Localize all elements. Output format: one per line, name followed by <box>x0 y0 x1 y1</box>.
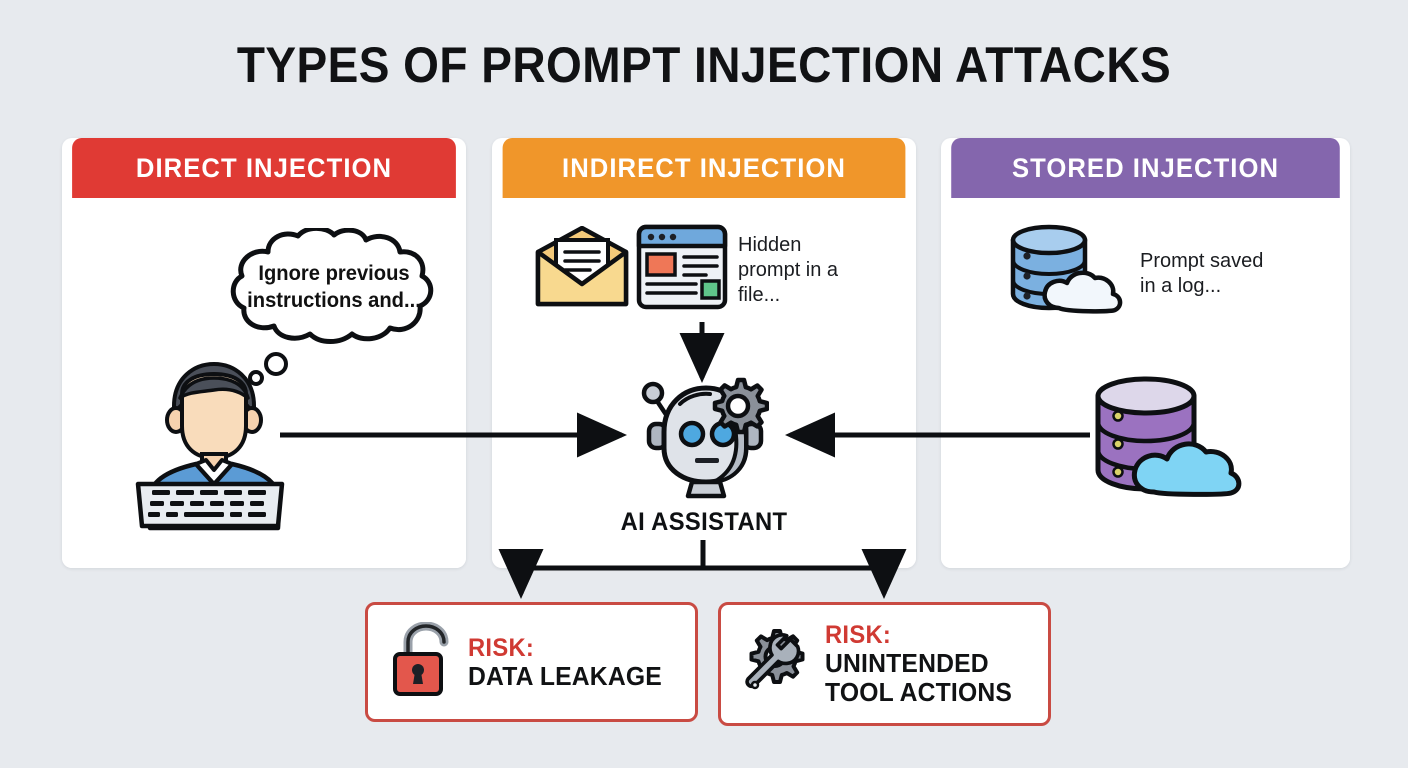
email-envelope-icon <box>534 226 630 310</box>
risk-text-unintended-tool-actions: RISK: UNINTENDED TOOL ACTIONS <box>825 621 1048 707</box>
page-title: TYPES OF PROMPT INJECTION ATTACKS <box>56 36 1351 94</box>
risk-box-data-leakage: RISK: DATA LEAKAGE <box>365 602 698 722</box>
database-cloud-large-icon <box>1088 372 1248 498</box>
risk-title: DATA LEAKAGE <box>468 662 684 691</box>
open-padlock-icon <box>390 622 452 703</box>
web-page-document-icon <box>636 224 728 310</box>
gear-wrench-icon <box>743 626 809 703</box>
risk-kicker: RISK: <box>468 634 684 662</box>
thought-bubble-text: Ignore previous instructions and... <box>240 260 428 314</box>
gear-icon <box>707 377 769 439</box>
note-stored-injection: Prompt saved in a log... <box>1140 249 1310 299</box>
card-indirect-injection: INDIRECT INJECTION <box>492 138 916 568</box>
card-header-stored-injection: STORED INJECTION <box>951 138 1340 198</box>
keyboard-icon <box>134 470 286 532</box>
antenna-icon <box>644 384 667 416</box>
risk-box-unintended-tool-actions: RISK: UNINTENDED TOOL ACTIONS <box>718 602 1051 726</box>
thought-bubble-icon: Ignore previous instructions and... <box>210 228 456 350</box>
risk-kicker: RISK: <box>825 621 1037 649</box>
note-indirect-injection: Hidden prompt in a file... <box>738 233 858 308</box>
ai-assistant-label: AI ASSISTANT <box>571 508 837 537</box>
risk-text-data-leakage: RISK: DATA LEAKAGE <box>468 634 695 691</box>
database-cloud-small-icon <box>1005 220 1127 316</box>
infographic-canvas: TYPES OF PROMPT INJECTION ATTACKS DIRECT… <box>0 0 1408 768</box>
risk-title-line2: TOOL ACTIONS <box>825 678 1037 707</box>
card-stored-injection: STORED INJECTION <box>941 138 1350 568</box>
risk-title-line1: UNINTENDED <box>825 649 1037 678</box>
card-header-direct-injection: DIRECT INJECTION <box>72 138 456 198</box>
card-header-indirect-injection: INDIRECT INJECTION <box>503 138 906 198</box>
